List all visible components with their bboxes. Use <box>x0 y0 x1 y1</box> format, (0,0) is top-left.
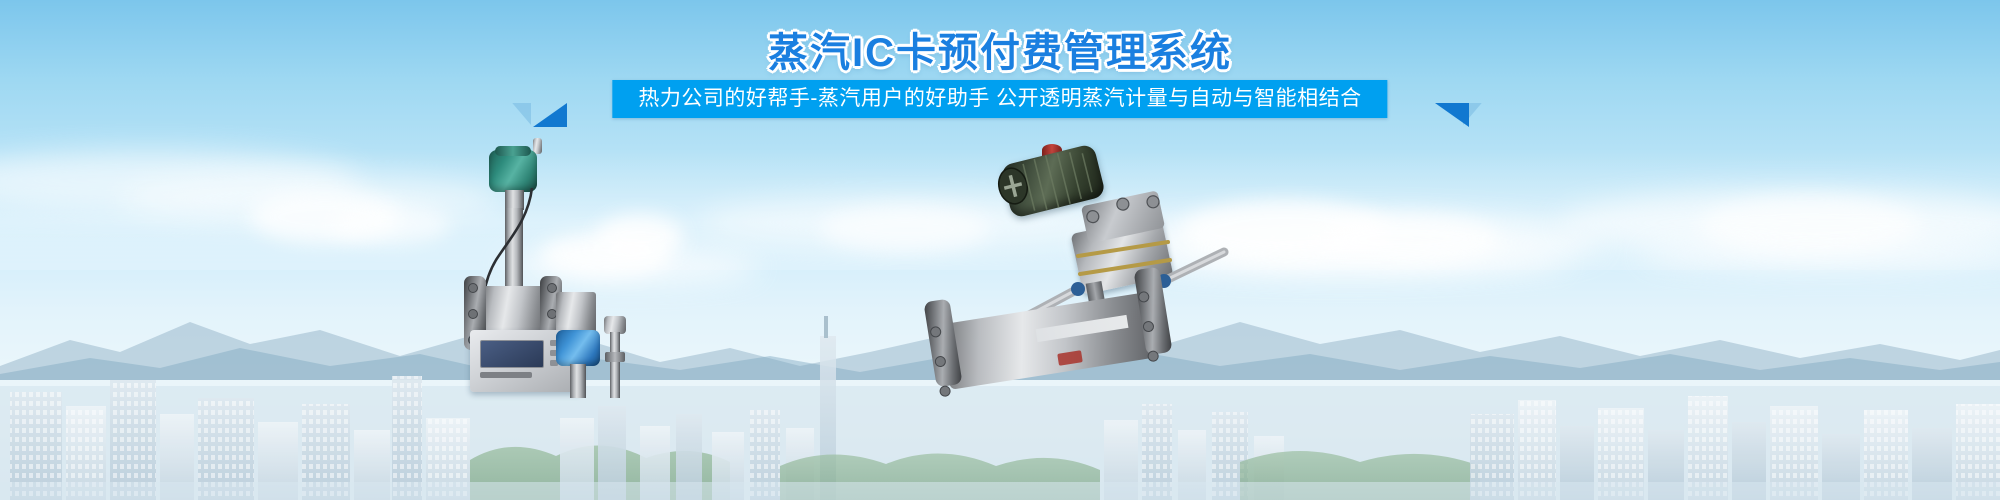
transmitter-head <box>556 330 600 366</box>
page-title: 蒸汽IC卡预付费管理系统 <box>0 20 2000 78</box>
subtitle-ribbon: 热力公司的好帮手-蒸汽用户的好助手 公开透明蒸汽计量与自动与智能相结合 <box>0 75 2000 127</box>
controller-card-slot <box>480 372 532 378</box>
ribbon-fold-right <box>1435 103 1469 127</box>
subtitle-text: 热力公司的好帮手-蒸汽用户的好助手 公开透明蒸汽计量与自动与智能相结合 <box>612 80 1387 118</box>
flowmeter-head-cap <box>495 146 531 156</box>
ribbon-fold-left <box>533 103 567 127</box>
transmitter-stem <box>570 364 586 398</box>
ribbon-tail-shadow-left <box>505 103 531 125</box>
probe-stem <box>610 332 620 398</box>
transmitter-cap <box>562 326 594 335</box>
controller-display <box>480 340 544 368</box>
probe-fitting <box>605 352 625 362</box>
hero-banner: 蒸汽IC卡预付费管理系统 热力公司的好帮手-蒸汽用户的好助手 公开透明蒸汽计量与… <box>0 0 2000 500</box>
